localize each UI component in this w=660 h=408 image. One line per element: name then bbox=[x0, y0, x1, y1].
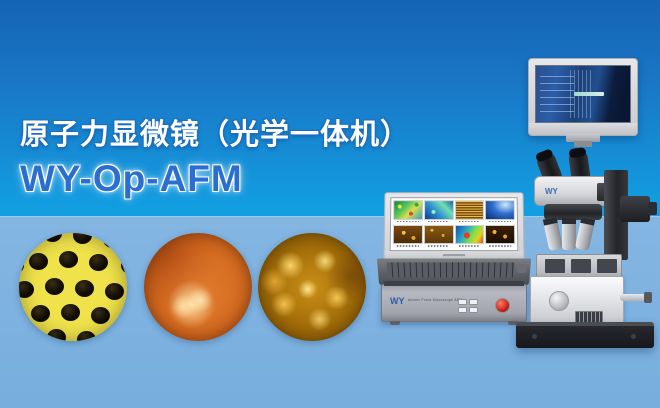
circle-vignette bbox=[258, 233, 366, 341]
scan-thumb-1 bbox=[393, 200, 423, 223]
stage-translation-rod[interactable] bbox=[620, 294, 648, 301]
objective-lens-group bbox=[546, 218, 600, 252]
headline-block: 原子力显微镜（光学一体机） WY-Op-AFM bbox=[20, 118, 410, 199]
sample-image-granular bbox=[258, 233, 366, 341]
controller-button-1[interactable] bbox=[458, 299, 467, 305]
laptop-keyboard bbox=[386, 262, 514, 277]
objective-lens-3 bbox=[575, 217, 595, 251]
afm-display-monitor bbox=[528, 58, 638, 136]
controller-button-4[interactable] bbox=[469, 307, 478, 313]
controller-caption: Atomic Force Microscope AFM bbox=[408, 298, 462, 302]
stage-focus-knob[interactable] bbox=[549, 291, 569, 311]
objective-lens-2 bbox=[562, 218, 576, 250]
scanner-block-1 bbox=[545, 259, 565, 273]
objective-lens-1 bbox=[543, 217, 563, 251]
controller-button-pad[interactable] bbox=[458, 299, 478, 313]
scan-lines-graphic bbox=[540, 76, 574, 112]
controller-button-2[interactable] bbox=[469, 299, 478, 305]
afm-microscope: WY bbox=[508, 58, 656, 330]
controller-button-3[interactable] bbox=[458, 307, 467, 313]
scanner-block-2 bbox=[571, 259, 591, 273]
laptop-lid bbox=[384, 192, 525, 260]
scan-thumb-6 bbox=[424, 225, 454, 249]
circle-vignette bbox=[144, 233, 252, 341]
scan-thumb-3 bbox=[454, 200, 484, 223]
head-brand-mark: WY bbox=[545, 186, 559, 197]
controller-top-panel bbox=[384, 281, 524, 286]
scan-thumb-5 bbox=[393, 225, 423, 249]
afm-scanner-assembly bbox=[536, 254, 622, 278]
monitor-screen bbox=[535, 65, 631, 123]
circle-vignette bbox=[19, 233, 127, 341]
afm-scanner-head-module bbox=[620, 196, 650, 222]
scanner-block-3 bbox=[597, 259, 617, 273]
scan-thumb-7 bbox=[454, 225, 484, 249]
controller-brand-mark: WY bbox=[390, 295, 402, 307]
page-title: 原子力显微镜（光学一体机） bbox=[20, 118, 410, 152]
monitor-neck bbox=[574, 141, 592, 147]
sample-image-dot-array bbox=[19, 233, 127, 341]
sample-stage-body bbox=[530, 276, 624, 328]
banner-stage: 原子力显微镜（光学一体机） WY-Op-AFM bbox=[0, 0, 660, 408]
model-name: WY-Op-AFM bbox=[20, 158, 410, 199]
afm-controller-unit: WY Atomic Force Microscope AFM bbox=[381, 284, 527, 322]
scan-thumb-2 bbox=[424, 200, 454, 223]
sample-image-terrace bbox=[144, 233, 252, 341]
granite-base bbox=[516, 322, 654, 348]
laptop-screen bbox=[390, 197, 519, 251]
probe-cantilever-graphic bbox=[574, 92, 604, 96]
controller-foot-left bbox=[390, 321, 400, 325]
